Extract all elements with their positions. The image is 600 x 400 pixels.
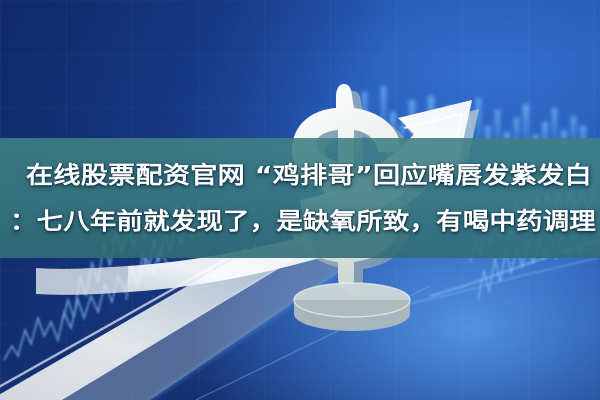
headline-line-2: ：七八年前就发现了，是缺氧所致，有喝中药调理 bbox=[0, 198, 600, 244]
headline-line-1: 在线股票配资官网 “鸡排哥”回应嘴唇发紫发白 bbox=[0, 152, 600, 198]
headline: 在线股票配资官网 “鸡排哥”回应嘴唇发紫发白 ：七八年前就发现了，是缺氧所致，有… bbox=[0, 138, 600, 258]
perspective-ribbon bbox=[0, 248, 430, 400]
news-thumbnail-image: 在线股票配资官网 “鸡排哥”回应嘴唇发紫发白 ：七八年前就发现了，是缺氧所致，有… bbox=[0, 0, 600, 400]
